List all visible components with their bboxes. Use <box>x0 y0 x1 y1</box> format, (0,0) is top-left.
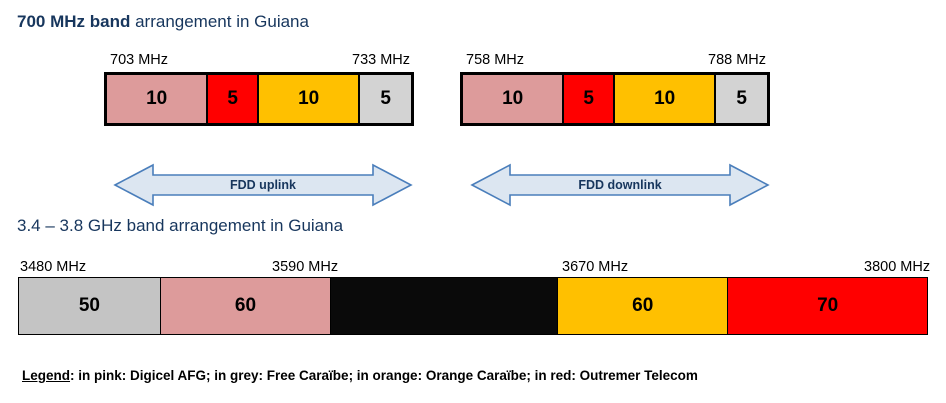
label-703mhz: 703 MHz <box>110 52 168 68</box>
band-row-34ghz: 50606070 <box>18 277 928 335</box>
fdd-uplink-block-2: 10 <box>259 75 360 123</box>
fdd-downlink-arrow-shape <box>470 162 770 208</box>
fdd-downlink-block-3: 5 <box>716 75 767 123</box>
label-758mhz: 758 MHz <box>466 52 524 68</box>
fdd-downlink-block-0-value: 10 <box>502 88 523 110</box>
fdd-uplink-arrow: FDD uplink <box>113 162 413 208</box>
band-34ghz-segment-0-value: 50 <box>79 295 100 317</box>
legend-heading: Legend <box>22 368 70 383</box>
band-34ghz-segment-1: 60 <box>161 278 331 334</box>
label-3590mhz: 3590 MHz <box>272 259 338 275</box>
band-34ghz-segment-4-value: 70 <box>817 295 838 317</box>
fdd-uplink-block-0: 10 <box>107 75 208 123</box>
fdd-downlink-block-1: 5 <box>564 75 615 123</box>
fdd-downlink-block-2: 10 <box>615 75 716 123</box>
title-700mhz-bold: 700 MHz band <box>17 12 130 31</box>
fdd-uplink-block-2-value: 10 <box>298 88 319 110</box>
fdd-uplink-block-3: 5 <box>360 75 411 123</box>
band-34ghz-segment-3-value: 60 <box>632 295 653 317</box>
fdd-downlink-block-3-value: 5 <box>736 88 747 110</box>
label-3670mhz: 3670 MHz <box>562 259 628 275</box>
fdd-uplink-block-1: 5 <box>208 75 259 123</box>
label-3480mhz: 3480 MHz <box>20 259 86 275</box>
fdd-uplink-block-0-value: 10 <box>146 88 167 110</box>
band-34ghz-segment-1-value: 60 <box>235 295 256 317</box>
band-34ghz-segment-0: 50 <box>19 278 161 334</box>
label-733mhz: 733 MHz <box>352 52 410 68</box>
fdd-uplink-arrow-shape <box>113 162 413 208</box>
label-788mhz: 788 MHz <box>708 52 766 68</box>
band-34ghz-segment-2 <box>331 278 558 334</box>
title-700mhz-rest: arrangement in Guiana <box>130 12 309 31</box>
band-row-fdd-downlink: 105105 <box>460 72 770 126</box>
label-3800mhz: 3800 MHz <box>864 259 930 275</box>
legend-text: : in pink: Digicel AFG; in grey: Free Ca… <box>70 368 698 383</box>
fdd-downlink-block-1-value: 5 <box>583 88 594 110</box>
fdd-uplink-block-3-value: 5 <box>380 88 391 110</box>
fdd-downlink-block-2-value: 10 <box>654 88 675 110</box>
band-34ghz-segment-3: 60 <box>558 278 728 334</box>
page-title-34ghz: 3.4 – 3.8 GHz band arrangement in Guiana <box>17 216 343 236</box>
band-34ghz-segment-4: 70 <box>728 278 927 334</box>
page-title-700mhz: 700 MHz band arrangement in Guiana <box>17 12 309 32</box>
fdd-uplink-block-1-value: 5 <box>227 88 238 110</box>
band-row-fdd-uplink: 105105 <box>104 72 414 126</box>
fdd-downlink-block-0: 10 <box>463 75 564 123</box>
fdd-downlink-arrow: FDD downlink <box>470 162 770 208</box>
legend: Legend: in pink: Digicel AFG; in grey: F… <box>22 368 698 383</box>
